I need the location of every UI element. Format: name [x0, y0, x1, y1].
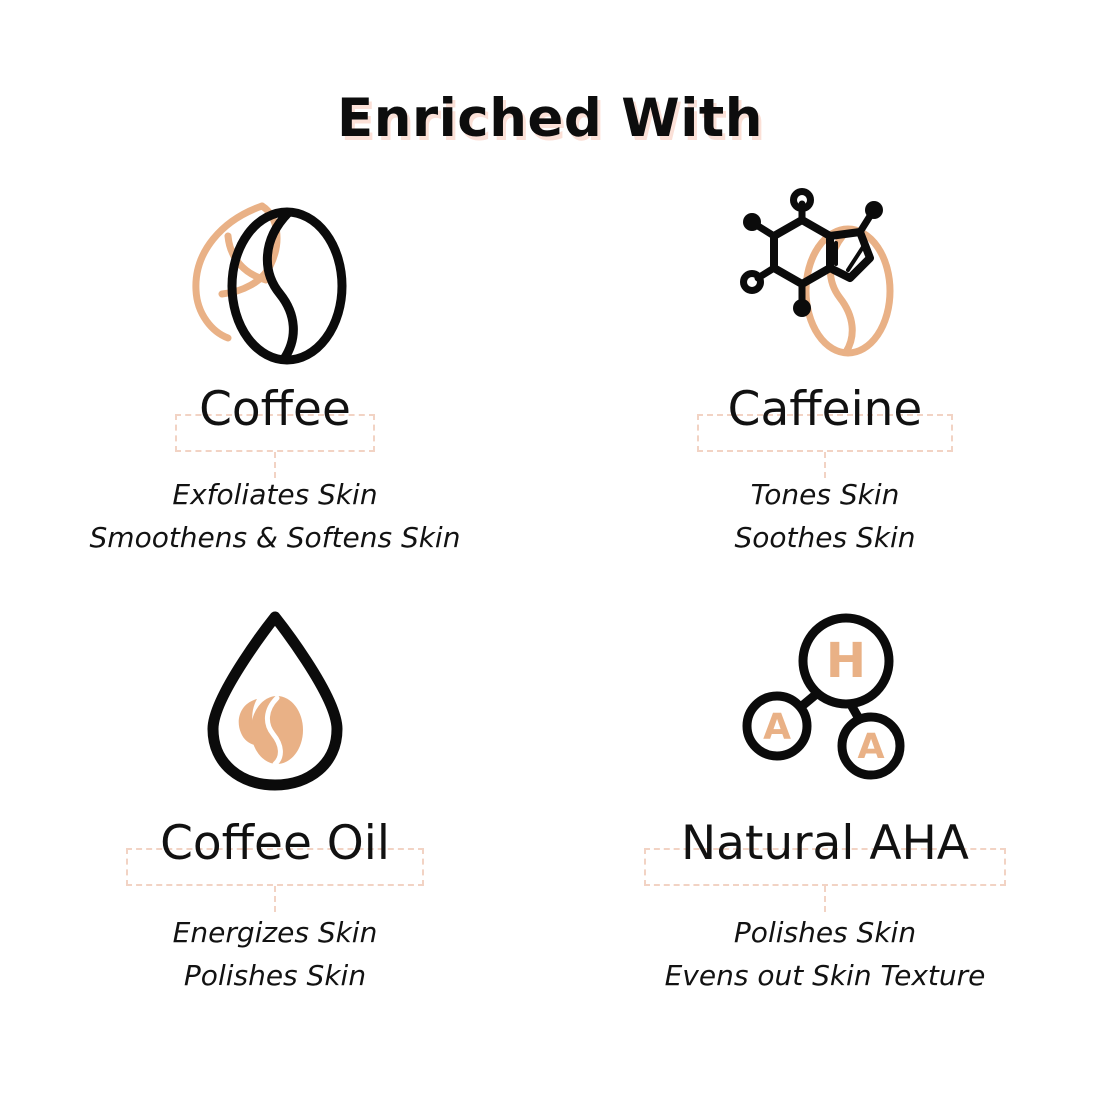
benefit-line: Soothes Skin — [735, 516, 916, 559]
ingredient-label: Coffee Oil — [150, 820, 400, 867]
dashed-stem — [824, 452, 826, 478]
benefit-line: Tones Skin — [735, 473, 916, 516]
ingredient-grid: Coffee Exfoliates Skin Smoothens & Softe… — [0, 178, 1100, 1018]
ingredient-card-caffeine: Caffeine Tones Skin Soothes Skin — [550, 178, 1100, 598]
dashed-stem — [274, 886, 276, 912]
natural-aha-benefits: Polishes Skin Evens out Skin Texture — [665, 911, 986, 998]
natural-aha-icon-box: H A A — [730, 598, 920, 798]
ingredient-label: Caffeine — [718, 386, 933, 433]
coffee-oil-droplet-icon — [185, 603, 365, 793]
coffee-oil-icon-box — [185, 598, 365, 798]
ingredient-card-coffee-oil: Coffee Oil Energizes Skin Polishes Skin — [0, 598, 550, 1018]
caffeine-molecule-icon — [720, 186, 930, 371]
aha-letter-a-left: A — [763, 707, 791, 748]
caffeine-icon-box — [720, 178, 930, 378]
coffee-bean-icon — [170, 186, 380, 371]
ingredient-card-coffee: Coffee Exfoliates Skin Smoothens & Softe… — [0, 178, 550, 598]
caffeine-benefits: Tones Skin Soothes Skin — [735, 473, 916, 560]
enriched-with-infographic: Enriched With Coffee — [0, 0, 1100, 1100]
ingredient-label: Coffee — [189, 386, 361, 433]
page-title: Enriched With — [337, 88, 763, 149]
page-title-wrap: Enriched With — [0, 88, 1100, 149]
caffeine-label-holder: Caffeine — [718, 386, 933, 433]
coffee-label-holder: Coffee — [189, 386, 361, 433]
aha-letter-h: H — [826, 633, 866, 689]
benefit-line: Energizes Skin — [173, 911, 378, 954]
benefit-line: Exfoliates Skin — [90, 473, 461, 516]
benefit-line: Polishes Skin — [665, 911, 986, 954]
ingredient-label: Natural AHA — [671, 820, 979, 867]
aha-letter-a-bottom: A — [857, 727, 884, 767]
benefit-line: Polishes Skin — [173, 954, 378, 997]
dashed-stem — [824, 886, 826, 912]
ingredient-card-natural-aha: H A A Natural AHA Polishes Skin Evens ou… — [550, 598, 1100, 1018]
benefit-line: Smoothens & Softens Skin — [90, 516, 461, 559]
coffee-icon-box — [170, 178, 380, 378]
coffee-oil-label-holder: Coffee Oil — [150, 820, 400, 867]
benefit-line: Evens out Skin Texture — [665, 954, 986, 997]
natural-aha-molecule-icon: H A A — [730, 603, 920, 793]
coffee-benefits: Exfoliates Skin Smoothens & Softens Skin — [90, 473, 461, 560]
natural-aha-label-holder: Natural AHA — [671, 820, 979, 867]
dashed-stem — [274, 452, 276, 478]
coffee-oil-benefits: Energizes Skin Polishes Skin — [173, 911, 378, 998]
